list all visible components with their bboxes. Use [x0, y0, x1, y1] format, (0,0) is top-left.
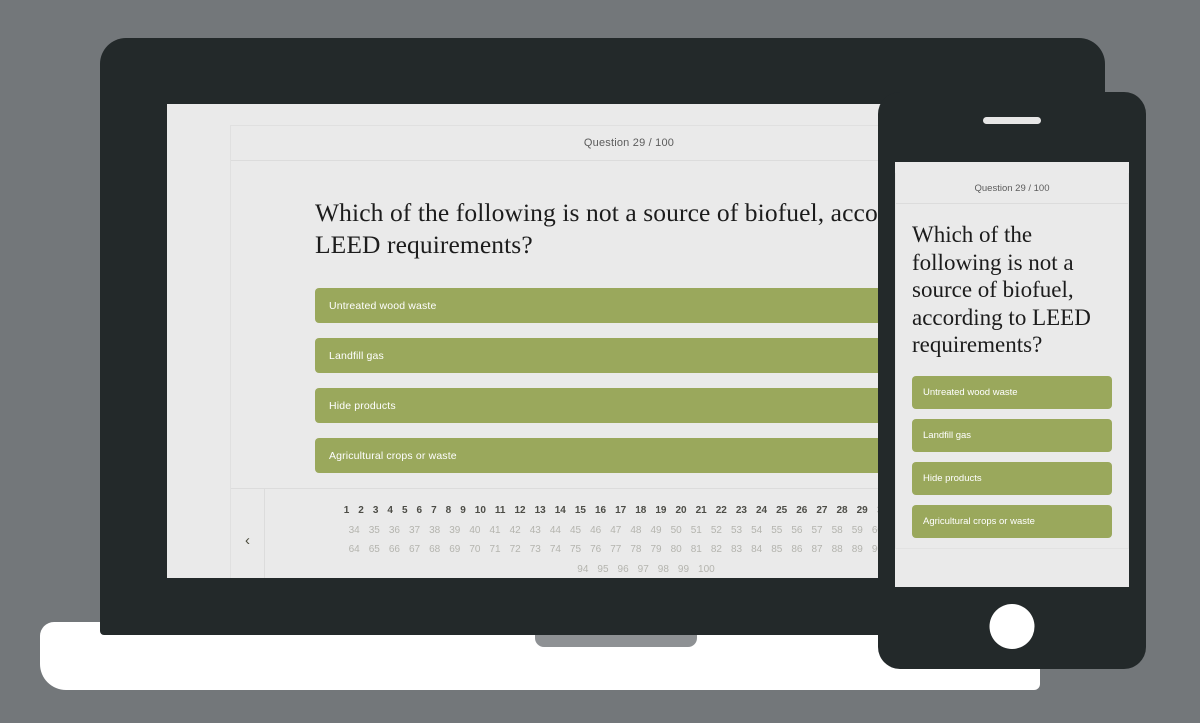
pagination-number-49[interactable]: 49	[646, 523, 666, 539]
answer-list: Untreated wood waste Landfill gas Hide p…	[315, 288, 973, 473]
pagination-number-45[interactable]: 45	[566, 523, 586, 539]
pagination-number-76[interactable]: 76	[586, 542, 606, 558]
pagination-number-18[interactable]: 18	[631, 503, 651, 519]
pagination-number-48[interactable]: 48	[626, 523, 646, 539]
pagination-number-82[interactable]: 82	[706, 542, 726, 558]
pagination-number-26[interactable]: 26	[792, 503, 812, 519]
phone-answer-option-4[interactable]: Agricultural crops or waste	[912, 505, 1112, 538]
pagination-number-95[interactable]: 95	[593, 562, 613, 578]
pagination-number-37[interactable]: 37	[405, 523, 425, 539]
pagination-number-16[interactable]: 16	[591, 503, 611, 519]
pagination-number-85[interactable]: 85	[767, 542, 787, 558]
phone-quiz-card: Question 29 / 100 Which of the following…	[895, 173, 1129, 549]
pagination-number-22[interactable]: 22	[711, 503, 731, 519]
pagination-number-74[interactable]: 74	[545, 542, 565, 558]
pagination-number-39[interactable]: 39	[445, 523, 465, 539]
pagination-number-66[interactable]: 66	[384, 542, 404, 558]
pagination-number-9[interactable]: 9	[456, 503, 471, 519]
pagination-number-86[interactable]: 86	[787, 542, 807, 558]
pagination-number-11[interactable]: 11	[490, 503, 510, 519]
phone-question-counter: Question 29 / 100	[975, 183, 1050, 194]
pagination-number-67[interactable]: 67	[405, 542, 425, 558]
phone-screen: Question 29 / 100 Which of the following…	[895, 162, 1129, 587]
pagination-number-54[interactable]: 54	[747, 523, 767, 539]
previous-question-chevron-icon[interactable]: ‹	[231, 489, 265, 578]
pagination-number-36[interactable]: 36	[384, 523, 404, 539]
phone-answer-list: Untreated wood waste Landfill gas Hide p…	[912, 376, 1114, 538]
pagination-number-20[interactable]: 20	[671, 503, 691, 519]
pagination-number-29[interactable]: 29	[852, 503, 872, 519]
pagination-number-21[interactable]: 21	[691, 503, 711, 519]
pagination-number-89[interactable]: 89	[847, 542, 867, 558]
pagination-number-75[interactable]: 75	[566, 542, 586, 558]
pagination-number-41[interactable]: 41	[485, 523, 505, 539]
pagination-number-27[interactable]: 27	[812, 503, 832, 519]
pagination-number-69[interactable]: 69	[445, 542, 465, 558]
pagination-number-72[interactable]: 72	[505, 542, 525, 558]
pagination-number-98[interactable]: 98	[653, 562, 673, 578]
pagination-number-28[interactable]: 28	[832, 503, 852, 519]
pagination-number-10[interactable]: 10	[470, 503, 490, 519]
answer-option-label: Hide products	[329, 400, 396, 412]
phone-answer-option-1[interactable]: Untreated wood waste	[912, 376, 1112, 409]
pagination-number-58[interactable]: 58	[827, 523, 847, 539]
pagination-number-4[interactable]: 4	[383, 503, 398, 519]
phone-answer-option-label: Landfill gas	[923, 430, 971, 441]
pagination-number-59[interactable]: 59	[847, 523, 867, 539]
pagination-number-15[interactable]: 15	[570, 503, 590, 519]
answer-option-label: Agricultural crops or waste	[329, 450, 457, 462]
pagination-number-84[interactable]: 84	[747, 542, 767, 558]
pagination-number-52[interactable]: 52	[706, 523, 726, 539]
pagination-number-77[interactable]: 77	[606, 542, 626, 558]
mockup-stage: Question 29 / 100 Which of the following…	[0, 0, 1200, 723]
pagination-number-40[interactable]: 40	[465, 523, 485, 539]
pagination-number-83[interactable]: 83	[727, 542, 747, 558]
pagination-number-50[interactable]: 50	[666, 523, 686, 539]
pagination-number-3[interactable]: 3	[368, 503, 383, 519]
pagination-number-24[interactable]: 24	[752, 503, 772, 519]
phone-answer-option-2[interactable]: Landfill gas	[912, 419, 1112, 452]
pagination-number-97[interactable]: 97	[633, 562, 653, 578]
pagination-number-7[interactable]: 7	[427, 503, 442, 519]
answer-option-4[interactable]: Agricultural crops or waste	[315, 438, 943, 473]
phone-home-button[interactable]	[990, 604, 1035, 649]
pagination-number-2[interactable]: 2	[354, 503, 369, 519]
phone-question-title: Which of the following is not a source o…	[912, 221, 1114, 359]
pagination-number-57[interactable]: 57	[807, 523, 827, 539]
pagination-number-81[interactable]: 81	[686, 542, 706, 558]
pagination-number-44[interactable]: 44	[545, 523, 565, 539]
pagination-number-68[interactable]: 68	[425, 542, 445, 558]
pagination-number-53[interactable]: 53	[727, 523, 747, 539]
phone-answer-option-label: Hide products	[923, 473, 982, 484]
pagination-number-64[interactable]: 64	[344, 542, 364, 558]
pagination-number-79[interactable]: 79	[646, 542, 666, 558]
phone-speaker	[983, 117, 1041, 124]
pagination-number-17[interactable]: 17	[611, 503, 631, 519]
pagination-number-25[interactable]: 25	[772, 503, 792, 519]
phone-answer-option-3[interactable]: Hide products	[912, 462, 1112, 495]
answer-option-2[interactable]: Landfill gas	[315, 338, 943, 373]
pagination-number-43[interactable]: 43	[525, 523, 545, 539]
phone-question-header: Question 29 / 100	[896, 173, 1128, 204]
pagination-number-38[interactable]: 38	[425, 523, 445, 539]
question-title: Which of the following is not a source o…	[315, 197, 973, 261]
pagination-number-100[interactable]: 100	[694, 562, 720, 578]
pagination-number-23[interactable]: 23	[731, 503, 751, 519]
pagination-number-35[interactable]: 35	[364, 523, 384, 539]
pagination-number-99[interactable]: 99	[673, 562, 693, 578]
pagination-number-5[interactable]: 5	[397, 503, 412, 519]
pagination-number-8[interactable]: 8	[441, 503, 456, 519]
pagination-number-78[interactable]: 78	[626, 542, 646, 558]
pagination-number-94[interactable]: 94	[573, 562, 593, 578]
pagination-number-70[interactable]: 70	[465, 542, 485, 558]
pagination-number-46[interactable]: 46	[586, 523, 606, 539]
pagination-number-65[interactable]: 65	[364, 542, 384, 558]
pagination-number-96[interactable]: 96	[613, 562, 633, 578]
answer-option-label: Untreated wood waste	[329, 300, 436, 312]
pagination-number-19[interactable]: 19	[651, 503, 671, 519]
pagination-number-1[interactable]: 1	[339, 503, 354, 519]
pagination-number-73[interactable]: 73	[525, 542, 545, 558]
answer-option-1[interactable]: Untreated wood waste	[315, 288, 943, 323]
pagination-number-34[interactable]: 34	[344, 523, 364, 539]
pagination-number-6[interactable]: 6	[412, 503, 427, 519]
pagination-number-47[interactable]: 47	[606, 523, 626, 539]
phone-frame: Question 29 / 100 Which of the following…	[878, 92, 1146, 669]
answer-option-3[interactable]: Hide products	[315, 388, 943, 423]
pagination-number-12[interactable]: 12	[510, 503, 530, 519]
pagination-number-56[interactable]: 56	[787, 523, 807, 539]
phone-answer-option-label: Agricultural crops or waste	[923, 516, 1035, 527]
pagination-number-14[interactable]: 14	[550, 503, 570, 519]
pagination-number-55[interactable]: 55	[767, 523, 787, 539]
pagination-number-88[interactable]: 88	[827, 542, 847, 558]
phone-answer-option-label: Untreated wood waste	[923, 387, 1018, 398]
question-counter: Question 29 / 100	[584, 137, 674, 149]
pagination-number-42[interactable]: 42	[505, 523, 525, 539]
pagination-number-87[interactable]: 87	[807, 542, 827, 558]
answer-option-label: Landfill gas	[329, 350, 384, 362]
pagination-number-51[interactable]: 51	[686, 523, 706, 539]
pagination-number-80[interactable]: 80	[666, 542, 686, 558]
pagination-number-13[interactable]: 13	[530, 503, 550, 519]
phone-question-body: Which of the following is not a source o…	[896, 204, 1128, 538]
pagination-number-71[interactable]: 71	[485, 542, 505, 558]
